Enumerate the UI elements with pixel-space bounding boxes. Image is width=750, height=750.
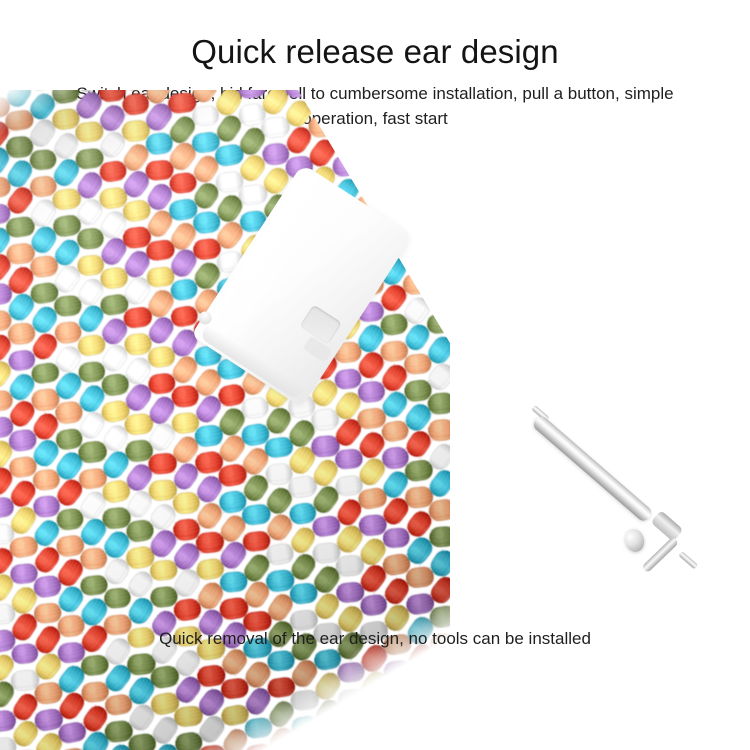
spring-bar-release-knob <box>622 527 647 554</box>
page-title: Quick release ear design <box>0 0 750 72</box>
spring-bar-collar <box>650 510 683 542</box>
photo-caption: Quick removal of the ear design, no tool… <box>0 627 750 651</box>
product-feature-image: Quick release ear design Switch ear desi… <box>0 0 750 750</box>
product-photo <box>0 150 750 630</box>
braided-band <box>0 90 450 750</box>
spring-bar-barrel <box>531 414 654 524</box>
spring-bar-release-lever <box>641 536 679 573</box>
spring-bar-tip-bottom <box>678 551 699 570</box>
quick-release-spring-bar <box>528 398 708 578</box>
braid-weave-texture <box>0 90 450 750</box>
clasp-release-slot <box>299 304 342 344</box>
braided-band-weave <box>0 90 450 750</box>
